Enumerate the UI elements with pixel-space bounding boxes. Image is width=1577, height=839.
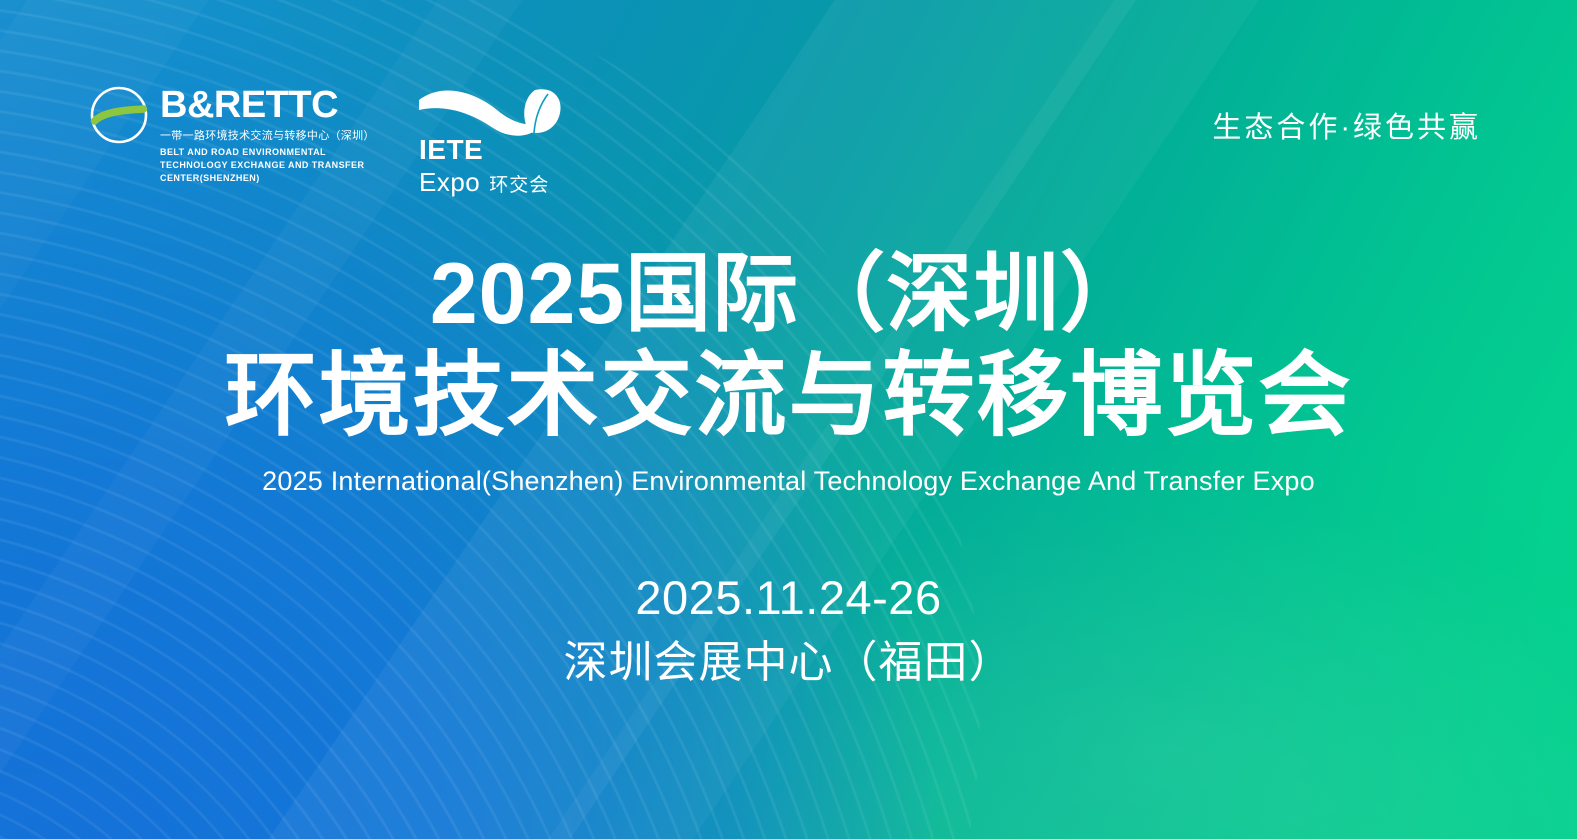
brettc-chinese-name: 一带一路环境技术交流与转移中心（深圳） [160,129,375,144]
brettc-logo[interactable]: B&RETTC 一带一路环境技术交流与转移中心（深圳） BELT AND ROA… [88,84,375,185]
banner-content: 2025国际（深圳） 环境技术交流与转移博览会 2025 Internation… [0,248,1577,691]
event-subtitle-english: 2025 International(Shenzhen) Environment… [0,466,1577,497]
event-venue: 深圳会展中心（福田） [0,634,1577,691]
event-tagline: 生态合作·绿色共赢 [1212,104,1481,146]
banner-header: B&RETTC 一带一路环境技术交流与转移中心（深圳） BELT AND ROA… [0,0,1577,210]
brettc-wordmark: B&RETTC [160,86,375,124]
event-date: 2025.11.24-26 [0,569,1577,628]
iete-expo-word: Expo [419,169,480,195]
event-banner: B&RETTC 一带一路环境技术交流与转移中心（深圳） BELT AND ROA… [0,0,1577,839]
logo-group: B&RETTC 一带一路环境技术交流与转移中心（深圳） BELT AND ROA… [88,84,569,188]
brettc-english-name: BELT AND ROAD ENVIRONMENTAL TECHNOLOGY E… [160,146,375,185]
iete-abbr: IETE [419,136,549,164]
event-title-line-1: 2025国际（深圳） [0,248,1577,341]
event-title-line-2: 环境技术交流与转移博览会 [0,347,1577,446]
iete-text-block: IETE Expo 环交会 [419,136,549,195]
iete-expo-logo[interactable]: IETE Expo 环交会 [417,84,569,188]
circle-band-emblem-icon [88,84,150,151]
event-meta: 2025.11.24-26 深圳会展中心（福田） [0,569,1577,691]
iete-chinese-short: 环交会 [489,176,549,195]
